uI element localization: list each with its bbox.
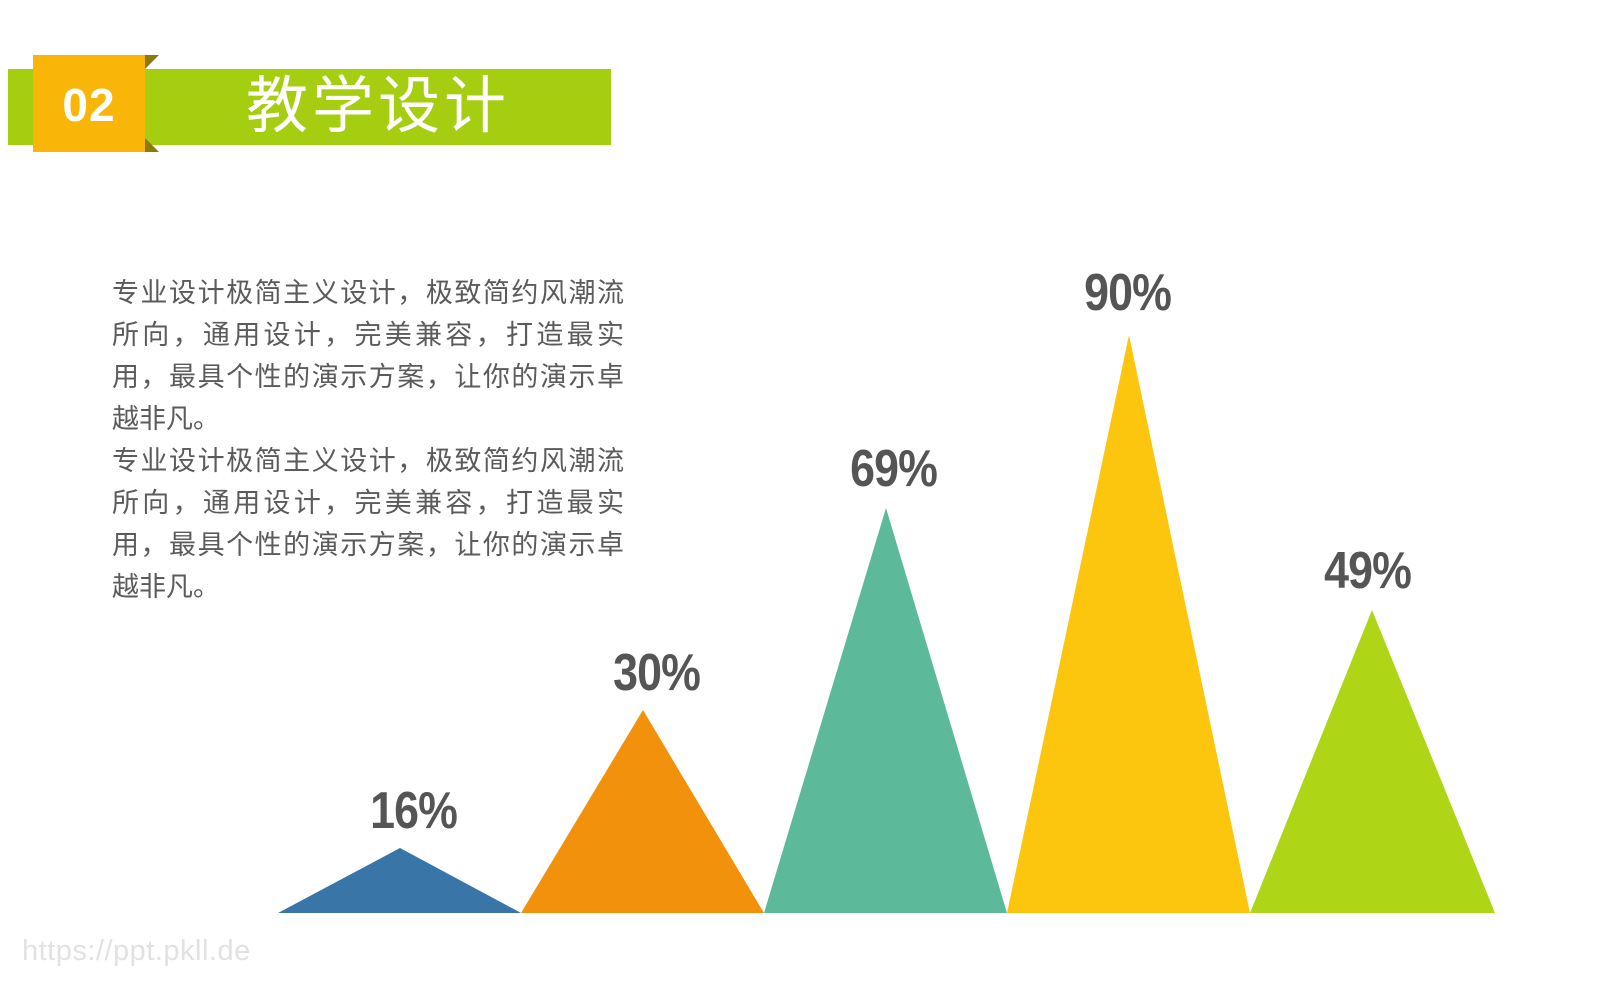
chart-data-label: 16% xyxy=(370,785,457,837)
chart-data-label: 30% xyxy=(613,647,700,699)
chart-triangle xyxy=(764,508,1007,913)
chart-triangle xyxy=(278,848,521,913)
chart-data-label: 90% xyxy=(1084,267,1171,319)
chart-triangle xyxy=(1007,335,1250,913)
triangle-peak-chart: 16%30%69%90%49% xyxy=(0,0,1600,1000)
chart-svg xyxy=(0,0,1600,1000)
chart-data-label: 69% xyxy=(850,443,937,495)
watermark-url: https://ppt.pkll.de xyxy=(22,935,251,968)
slide-canvas: 02 教学设计 专业设计极简主义设计，极致简约风潮流所向，通用设计，完美兼容，打… xyxy=(0,0,1600,1000)
chart-data-label: 49% xyxy=(1324,545,1411,597)
chart-triangle xyxy=(1250,610,1495,913)
chart-triangle xyxy=(521,710,764,913)
